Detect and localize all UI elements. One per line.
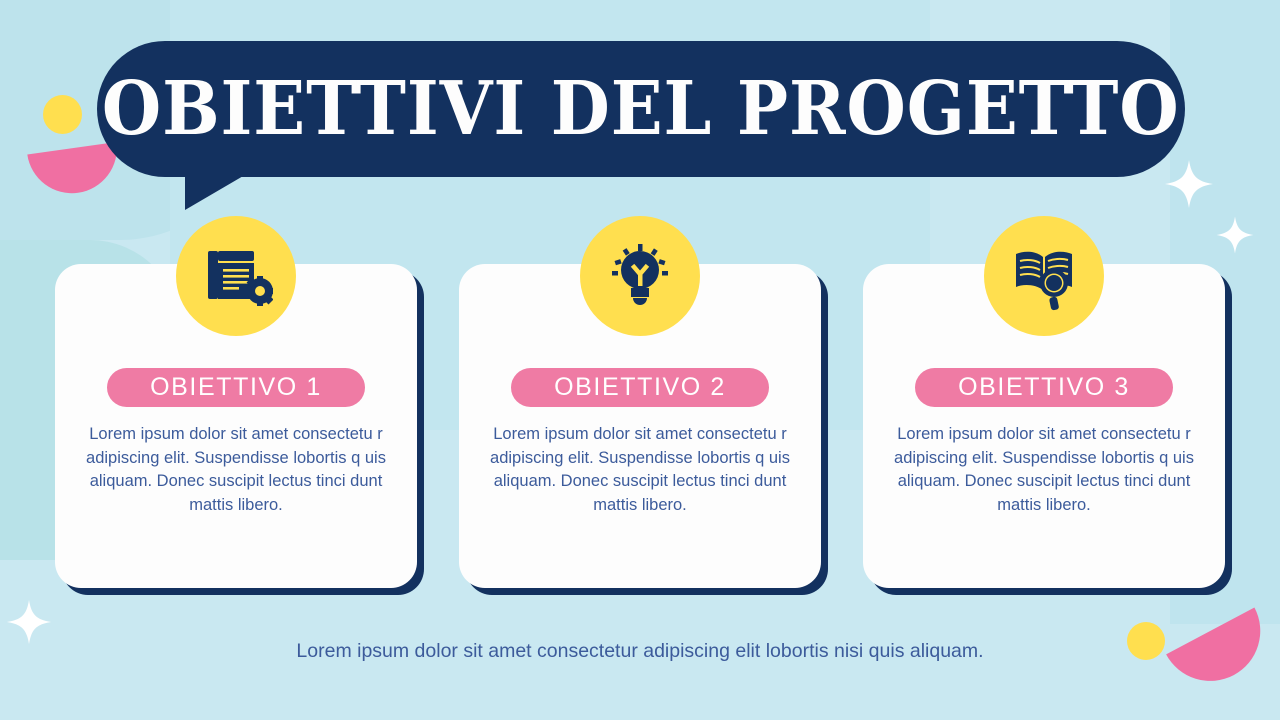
card-surface: OBIETTIVO 1 Lorem ipsum dolor sit amet c… [55,264,417,588]
card-body-last-3: mattis libero. [997,494,1091,518]
body-line-4: dunt [754,472,786,490]
body-line-4: dunt [350,472,382,490]
card-body-3: Lorem ipsum dolor sit amet consectetu r … [894,423,1194,494]
yellow-circle-top-left [43,95,82,134]
cards-row: OBIETTIVO 1 Lorem ipsum dolor sit amet c… [0,264,1280,588]
speech-bubble-tail [185,172,250,210]
body-line-1: Lorem ipsum dolor sit amet consectetu [493,425,776,443]
card-body-last-2: mattis libero. [593,494,687,518]
objective-pill-2: OBIETTIVO 2 [511,368,769,407]
objective-label-2: OBIETTIVO 2 [554,375,726,400]
page-title: OBIETTIVI DEL PROGETTO [102,72,1180,146]
card-body-2: Lorem ipsum dolor sit amet consectetu r … [490,423,790,494]
card-surface: OBIETTIVO 3 Lorem ipsum dolor sit amet c… [863,264,1225,588]
book-gear-icon [199,239,273,313]
icon-badge-1 [176,216,296,336]
lightbulb-icon [604,240,676,312]
objective-pill-1: OBIETTIVO 1 [107,368,365,407]
title-bubble: OBIETTIVI DEL PROGETTO [97,41,1185,177]
objective-card-1[interactable]: OBIETTIVO 1 Lorem ipsum dolor sit amet c… [55,264,417,588]
book-magnifier-icon [1007,239,1081,313]
background-band-bottom [0,624,1280,720]
card-surface: OBIETTIVO 2 Lorem ipsum dolor sit amet c… [459,264,821,588]
icon-badge-2 [580,216,700,336]
body-line-4: dunt [1158,472,1190,490]
body-line-1: Lorem ipsum dolor sit amet consectetu [89,425,372,443]
objective-label-1: OBIETTIVO 1 [150,375,322,400]
objective-pill-3: OBIETTIVO 3 [915,368,1173,407]
objective-card-3[interactable]: OBIETTIVO 3 Lorem ipsum dolor sit amet c… [863,264,1225,588]
objective-card-2[interactable]: OBIETTIVO 2 Lorem ipsum dolor sit amet c… [459,264,821,588]
icon-badge-3 [984,216,1104,336]
card-body-last-1: mattis libero. [189,494,283,518]
slide-root: OBIETTIVI DEL PROGETTO [0,0,1280,720]
card-body-1: Lorem ipsum dolor sit amet consectetu r … [86,423,386,494]
footer-text: Lorem ipsum dolor sit amet consectetur a… [0,640,1280,663]
objective-label-3: OBIETTIVO 3 [958,375,1130,400]
body-line-1: Lorem ipsum dolor sit amet consectetu [897,425,1180,443]
